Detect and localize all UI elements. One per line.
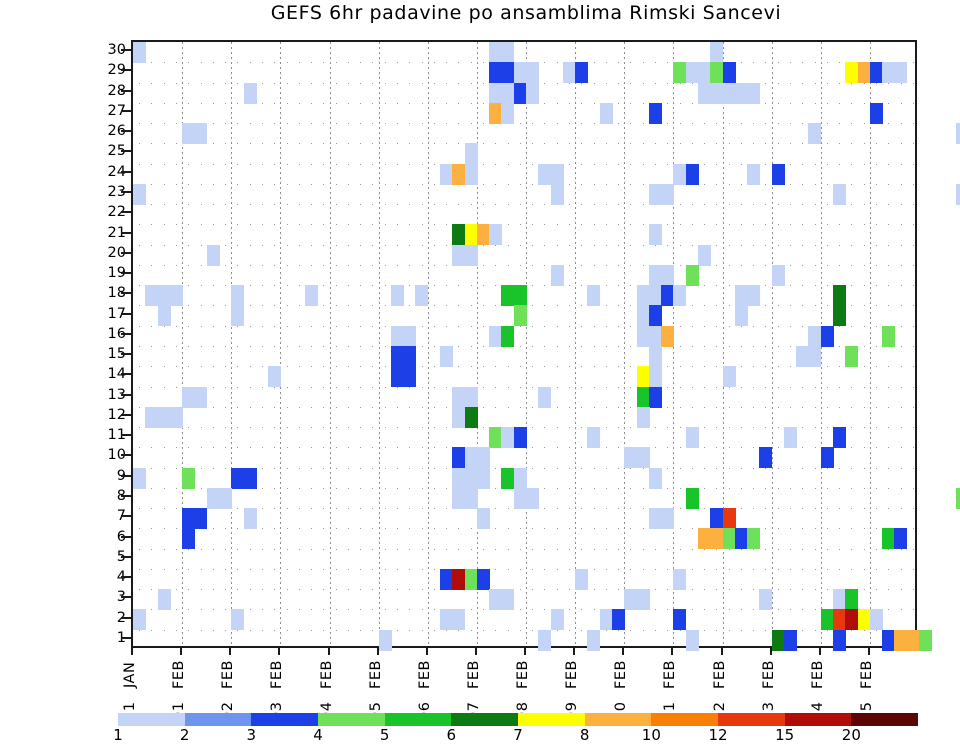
colorbar-tick-label: 10 <box>642 726 661 744</box>
heatmap-cell <box>231 285 244 306</box>
heatmap-cell <box>833 285 846 306</box>
heatmap-cell <box>452 164 465 185</box>
heatmap-cell <box>686 427 699 448</box>
heatmap-cell <box>465 468 478 489</box>
x-axis-label-group: FEB15 <box>859 652 877 722</box>
x-axis-month-label: FEB <box>810 652 826 698</box>
heatmap-cell <box>465 569 478 590</box>
colorbar-segment <box>518 713 585 726</box>
y-axis-tick <box>121 596 131 598</box>
heatmap-cell <box>452 447 465 468</box>
heatmap-cell <box>575 569 588 590</box>
colorbar-segment <box>451 713 518 726</box>
y-axis-tick <box>121 576 131 578</box>
y-axis-tick <box>121 495 131 497</box>
heatmap-cell <box>465 488 478 509</box>
heatmap-cell <box>158 285 171 306</box>
heatmap-cell <box>845 609 858 630</box>
heatmap-cell <box>403 346 416 367</box>
heatmap-cell <box>501 103 514 124</box>
heatmap-cell <box>514 488 527 509</box>
colorbar-segment <box>651 713 718 726</box>
heatmap-cell <box>391 366 404 387</box>
y-axis-tick <box>121 414 131 416</box>
heatmap-cell <box>501 42 514 63</box>
x-axis-label-group: FEB09 <box>564 652 582 722</box>
x-axis-label-group: FEB05 <box>368 652 386 722</box>
x-axis-month-label: FEB <box>761 652 777 698</box>
heatmap-cell <box>514 285 527 306</box>
heatmap-cell <box>489 224 502 245</box>
heatmap-cell <box>440 569 453 590</box>
y-axis-tick <box>121 49 131 51</box>
heatmap-cell <box>551 184 564 205</box>
heatmap-cell <box>821 609 834 630</box>
colorbar-tick-label: 5 <box>380 726 390 744</box>
heatmap-cell <box>575 62 588 83</box>
heatmap-cell <box>440 609 453 630</box>
heatmap-cell <box>673 62 686 83</box>
heatmap-cell <box>747 528 760 549</box>
heatmap-cell <box>649 184 662 205</box>
heatmap-cell <box>747 285 760 306</box>
colorbar-segment <box>251 713 318 726</box>
heatmap-cell <box>231 305 244 326</box>
heatmap-cell <box>649 326 662 347</box>
x-axis-month-label: FEB <box>859 652 875 698</box>
heatmap-cell <box>501 468 514 489</box>
heatmap-cell <box>661 326 674 347</box>
heatmap-cell <box>158 305 171 326</box>
x-axis-label-group: FEB10 <box>613 652 631 722</box>
heatmap-cell <box>882 326 895 347</box>
heatmap-cell <box>808 326 821 347</box>
colorbar-segment <box>718 713 785 726</box>
heatmap-cell <box>391 326 404 347</box>
x-axis-label-group: FEB02 <box>220 652 238 722</box>
y-axis-tick <box>121 191 131 193</box>
heatmap-cell <box>415 285 428 306</box>
heatmap-cell <box>465 387 478 408</box>
heatmap-cell <box>489 589 502 610</box>
heatmap-cell <box>526 62 539 83</box>
heatmap-cells <box>133 42 915 646</box>
heatmap-cell <box>489 427 502 448</box>
heatmap-cell <box>710 528 723 549</box>
heatmap-cell <box>489 83 502 104</box>
heatmap-cell <box>526 488 539 509</box>
heatmap-cell <box>845 62 858 83</box>
heatmap-cell <box>465 143 478 164</box>
colorbar-tick-label: 4 <box>313 726 323 744</box>
heatmap-cell <box>501 62 514 83</box>
x-axis-labels: JAN31FEB01FEB02FEB03FEB04FEB05FEB06FEB07… <box>131 652 917 710</box>
heatmap-cell <box>538 164 551 185</box>
colorbar-tick-label: 8 <box>580 726 590 744</box>
heatmap-cell <box>440 346 453 367</box>
heatmap-cell <box>182 387 195 408</box>
heatmap-cell <box>501 589 514 610</box>
heatmap-cell <box>710 83 723 104</box>
y-axis-tick <box>121 333 131 335</box>
y-axis-tick <box>121 313 131 315</box>
x-axis-month-label: FEB <box>515 652 531 698</box>
heatmap-cell <box>538 387 551 408</box>
heatmap-cell <box>268 366 281 387</box>
heatmap-cell <box>796 346 809 367</box>
heatmap-cell <box>956 123 960 144</box>
colorbar-segment <box>585 713 652 726</box>
heatmap-cell <box>477 569 490 590</box>
heatmap-cell <box>182 508 195 529</box>
x-axis-label-group: FEB07 <box>466 652 484 722</box>
x-axis-label-group: JAN31 <box>122 652 140 722</box>
colorbar-segment <box>851 713 918 726</box>
heatmap-cell <box>477 447 490 468</box>
colorbar-tick-label: 12 <box>708 726 727 744</box>
heatmap-cell <box>858 62 871 83</box>
heatmap-cell <box>747 164 760 185</box>
colorbar <box>118 713 918 726</box>
heatmap-cell <box>391 346 404 367</box>
heatmap-cell <box>698 528 711 549</box>
x-axis-month-label: FEB <box>417 652 433 698</box>
heatmap-cell <box>403 326 416 347</box>
y-axis-tick <box>121 69 131 71</box>
colorbar-tick-label: 7 <box>513 726 523 744</box>
heatmap-cell <box>133 184 146 205</box>
colorbar-tick-label: 2 <box>180 726 190 744</box>
colorbar-tick-label: 1 <box>113 726 123 744</box>
heatmap-cell <box>526 83 539 104</box>
y-axis-tick <box>121 475 131 477</box>
x-axis-month-label: FEB <box>662 652 678 698</box>
y-axis-tick <box>121 434 131 436</box>
heatmap-cell <box>182 468 195 489</box>
heatmap-cell <box>833 609 846 630</box>
heatmap-cell <box>477 468 490 489</box>
heatmap-cell <box>391 285 404 306</box>
y-axis-tick <box>121 90 131 92</box>
heatmap-cell <box>919 630 932 651</box>
x-axis-label-group: FEB12 <box>712 652 730 722</box>
heatmap-cell <box>686 265 699 286</box>
heatmap-cell <box>833 589 846 610</box>
heatmap-cell <box>231 468 244 489</box>
heatmap-cell <box>587 427 600 448</box>
heatmap-cell <box>673 609 686 630</box>
heatmap-cell <box>563 62 576 83</box>
heatmap-cell <box>452 609 465 630</box>
heatmap-cell <box>649 265 662 286</box>
heatmap-cell <box>133 468 146 489</box>
heatmap-cell <box>452 407 465 428</box>
y-axis-tick <box>121 353 131 355</box>
heatmap-cell <box>465 407 478 428</box>
y-axis-tick <box>121 150 131 152</box>
heatmap-cell <box>514 62 527 83</box>
heatmap-cell <box>723 508 736 529</box>
heatmap-cell <box>170 407 183 428</box>
y-axis-tick <box>121 637 131 639</box>
heatmap-cell <box>489 103 502 124</box>
heatmap-cell <box>747 83 760 104</box>
heatmap-cell <box>194 387 207 408</box>
x-axis-month-label: FEB <box>466 652 482 698</box>
x-axis-label-group: FEB13 <box>761 652 779 722</box>
heatmap-cell <box>649 387 662 408</box>
heatmap-cell <box>637 447 650 468</box>
heatmap-cell <box>465 164 478 185</box>
heatmap-cell <box>501 83 514 104</box>
colorbar-segment <box>385 713 452 726</box>
x-axis-month-label: FEB <box>269 652 285 698</box>
heatmap-cell <box>649 224 662 245</box>
heatmap-cell <box>698 83 711 104</box>
heatmap-cell <box>452 569 465 590</box>
heatmap-cell <box>698 62 711 83</box>
heatmap-cell <box>894 528 907 549</box>
heatmap-cell <box>170 285 183 306</box>
heatmap-cell <box>649 346 662 367</box>
heatmap-plot-area <box>131 40 917 648</box>
heatmap-cell <box>637 407 650 428</box>
heatmap-cell <box>735 83 748 104</box>
heatmap-cell <box>551 609 564 630</box>
heatmap-cell <box>145 285 158 306</box>
y-axis-tick <box>121 130 131 132</box>
heatmap-cell <box>759 447 772 468</box>
heatmap-cell <box>649 103 662 124</box>
heatmap-cell <box>649 366 662 387</box>
heatmap-cell <box>956 184 960 205</box>
heatmap-cell <box>624 589 637 610</box>
heatmap-cell <box>551 164 564 185</box>
heatmap-cell <box>637 305 650 326</box>
heatmap-cell <box>759 589 772 610</box>
heatmap-cell <box>808 123 821 144</box>
x-axis-label-group: FEB11 <box>662 652 680 722</box>
colorbar-segment <box>185 713 252 726</box>
heatmap-cell <box>723 528 736 549</box>
heatmap-cell <box>637 285 650 306</box>
heatmap-cell <box>833 184 846 205</box>
heatmap-cell <box>723 62 736 83</box>
heatmap-cell <box>723 83 736 104</box>
y-axis-tick <box>121 232 131 234</box>
heatmap-cell <box>465 447 478 468</box>
heatmap-cell <box>858 609 871 630</box>
y-axis-tick <box>121 454 131 456</box>
x-axis-label-group: FEB08 <box>515 652 533 722</box>
heatmap-cell <box>587 285 600 306</box>
heatmap-cell <box>244 508 257 529</box>
heatmap-cell <box>772 265 785 286</box>
chart-root: GEFS 6hr padavine po ansamblima Rimski S… <box>0 0 960 742</box>
colorbar-tick-label: 15 <box>775 726 794 744</box>
colorbar-tick-label: 3 <box>247 726 257 744</box>
heatmap-cell <box>489 326 502 347</box>
x-axis-month-label: FEB <box>220 652 236 698</box>
heatmap-cell <box>661 285 674 306</box>
heatmap-cell <box>158 407 171 428</box>
heatmap-cell <box>649 305 662 326</box>
heatmap-cell <box>882 528 895 549</box>
y-axis-tick <box>121 394 131 396</box>
heatmap-cell <box>452 488 465 509</box>
heatmap-cell <box>244 468 257 489</box>
heatmap-cell <box>673 569 686 590</box>
heatmap-cell <box>477 508 490 529</box>
heatmap-cell <box>489 62 502 83</box>
heatmap-cell <box>723 366 736 387</box>
heatmap-cell <box>661 184 674 205</box>
x-axis-month-label: FEB <box>613 652 629 698</box>
heatmap-cell <box>465 224 478 245</box>
y-axis-tick <box>121 252 131 254</box>
heatmap-cell <box>661 265 674 286</box>
colorbar-tick-labels: 1234567810121520 <box>118 726 918 744</box>
heatmap-cell <box>501 326 514 347</box>
heatmap-cell <box>158 589 171 610</box>
colorbar-segment <box>118 713 185 726</box>
x-axis-month-label: FEB <box>564 652 580 698</box>
heatmap-cell <box>514 468 527 489</box>
y-axis-tick <box>121 373 131 375</box>
heatmap-cell <box>600 103 613 124</box>
heatmap-cell <box>514 427 527 448</box>
y-axis-tick <box>121 272 131 274</box>
y-axis-tick <box>121 110 131 112</box>
colorbar-segment <box>785 713 852 726</box>
heatmap-cell <box>194 123 207 144</box>
colorbar-tick-label: 6 <box>447 726 457 744</box>
heatmap-cell <box>514 83 527 104</box>
heatmap-cell <box>207 245 220 266</box>
heatmap-cell <box>784 427 797 448</box>
heatmap-cell <box>452 245 465 266</box>
heatmap-cell <box>551 265 564 286</box>
y-axis-tick <box>121 536 131 538</box>
heatmap-cell <box>710 42 723 63</box>
heatmap-cell <box>477 224 490 245</box>
heatmap-cell <box>649 508 662 529</box>
heatmap-cell <box>219 488 232 509</box>
heatmap-cell <box>845 589 858 610</box>
heatmap-cell <box>833 305 846 326</box>
y-axis-tick <box>121 171 131 173</box>
heatmap-cell <box>686 164 699 185</box>
heatmap-cell <box>244 83 257 104</box>
heatmap-cell <box>637 366 650 387</box>
heatmap-cell <box>735 305 748 326</box>
y-axis-tick <box>121 515 131 517</box>
heatmap-cell <box>673 164 686 185</box>
x-axis-month-label: FEB <box>368 652 384 698</box>
heatmap-cell <box>182 123 195 144</box>
heatmap-cell <box>133 609 146 630</box>
heatmap-cell <box>514 305 527 326</box>
chart-title: GEFS 6hr padavine po ansamblima Rimski S… <box>131 2 921 24</box>
x-axis-label-group: FEB14 <box>810 652 828 722</box>
heatmap-cell <box>882 62 895 83</box>
x-axis-label-group: FEB04 <box>319 652 337 722</box>
heatmap-cell <box>870 62 883 83</box>
heatmap-cell <box>649 285 662 306</box>
heatmap-cell <box>894 62 907 83</box>
y-axis-tick <box>121 211 131 213</box>
heatmap-cell <box>600 609 613 630</box>
heatmap-cell <box>612 609 625 630</box>
heatmap-cell <box>207 488 220 509</box>
heatmap-cell <box>501 427 514 448</box>
heatmap-cell <box>735 285 748 306</box>
heatmap-cell <box>833 427 846 448</box>
heatmap-cell <box>305 285 318 306</box>
heatmap-cell <box>956 488 960 509</box>
heatmap-cell <box>452 387 465 408</box>
heatmap-cell <box>772 164 785 185</box>
heatmap-cell <box>452 224 465 245</box>
colorbar-tick-label: 20 <box>842 726 861 744</box>
heatmap-cell <box>194 508 207 529</box>
y-axis-tick <box>121 617 131 619</box>
heatmap-cell <box>637 387 650 408</box>
heatmap-cell <box>231 609 244 630</box>
heatmap-cell <box>710 508 723 529</box>
x-axis-label-group: FEB03 <box>269 652 287 722</box>
heatmap-cell <box>624 447 637 468</box>
x-axis-month-label: FEB <box>712 652 728 698</box>
heatmap-cell <box>452 468 465 489</box>
heatmap-cell <box>403 366 416 387</box>
heatmap-cell <box>637 589 650 610</box>
heatmap-cell <box>870 103 883 124</box>
heatmap-cell <box>182 528 195 549</box>
heatmap-cell <box>145 407 158 428</box>
heatmap-cell <box>845 346 858 367</box>
heatmap-cell <box>870 609 883 630</box>
heatmap-cell <box>698 245 711 266</box>
colorbar-segment <box>318 713 385 726</box>
heatmap-cell <box>808 346 821 367</box>
y-axis-tick <box>121 556 131 558</box>
x-axis-month-label: FEB <box>319 652 335 698</box>
x-axis-month-label: JAN <box>122 652 138 698</box>
heatmap-cell <box>686 488 699 509</box>
heatmap-cell <box>440 164 453 185</box>
heatmap-cell <box>735 528 748 549</box>
x-axis-month-label: FEB <box>171 652 187 698</box>
heatmap-cell <box>821 326 834 347</box>
heatmap-cell <box>673 285 686 306</box>
heatmap-cell <box>710 62 723 83</box>
heatmap-cell <box>637 326 650 347</box>
x-axis-label-group: FEB01 <box>171 652 189 722</box>
heatmap-cell <box>501 285 514 306</box>
heatmap-cell <box>465 245 478 266</box>
heatmap-cell <box>649 468 662 489</box>
heatmap-cell <box>489 42 502 63</box>
heatmap-cell <box>133 42 146 63</box>
x-axis-label-group: FEB06 <box>417 652 435 722</box>
heatmap-cell <box>661 508 674 529</box>
heatmap-cell <box>821 447 834 468</box>
y-axis-tick <box>121 292 131 294</box>
heatmap-cell <box>686 62 699 83</box>
